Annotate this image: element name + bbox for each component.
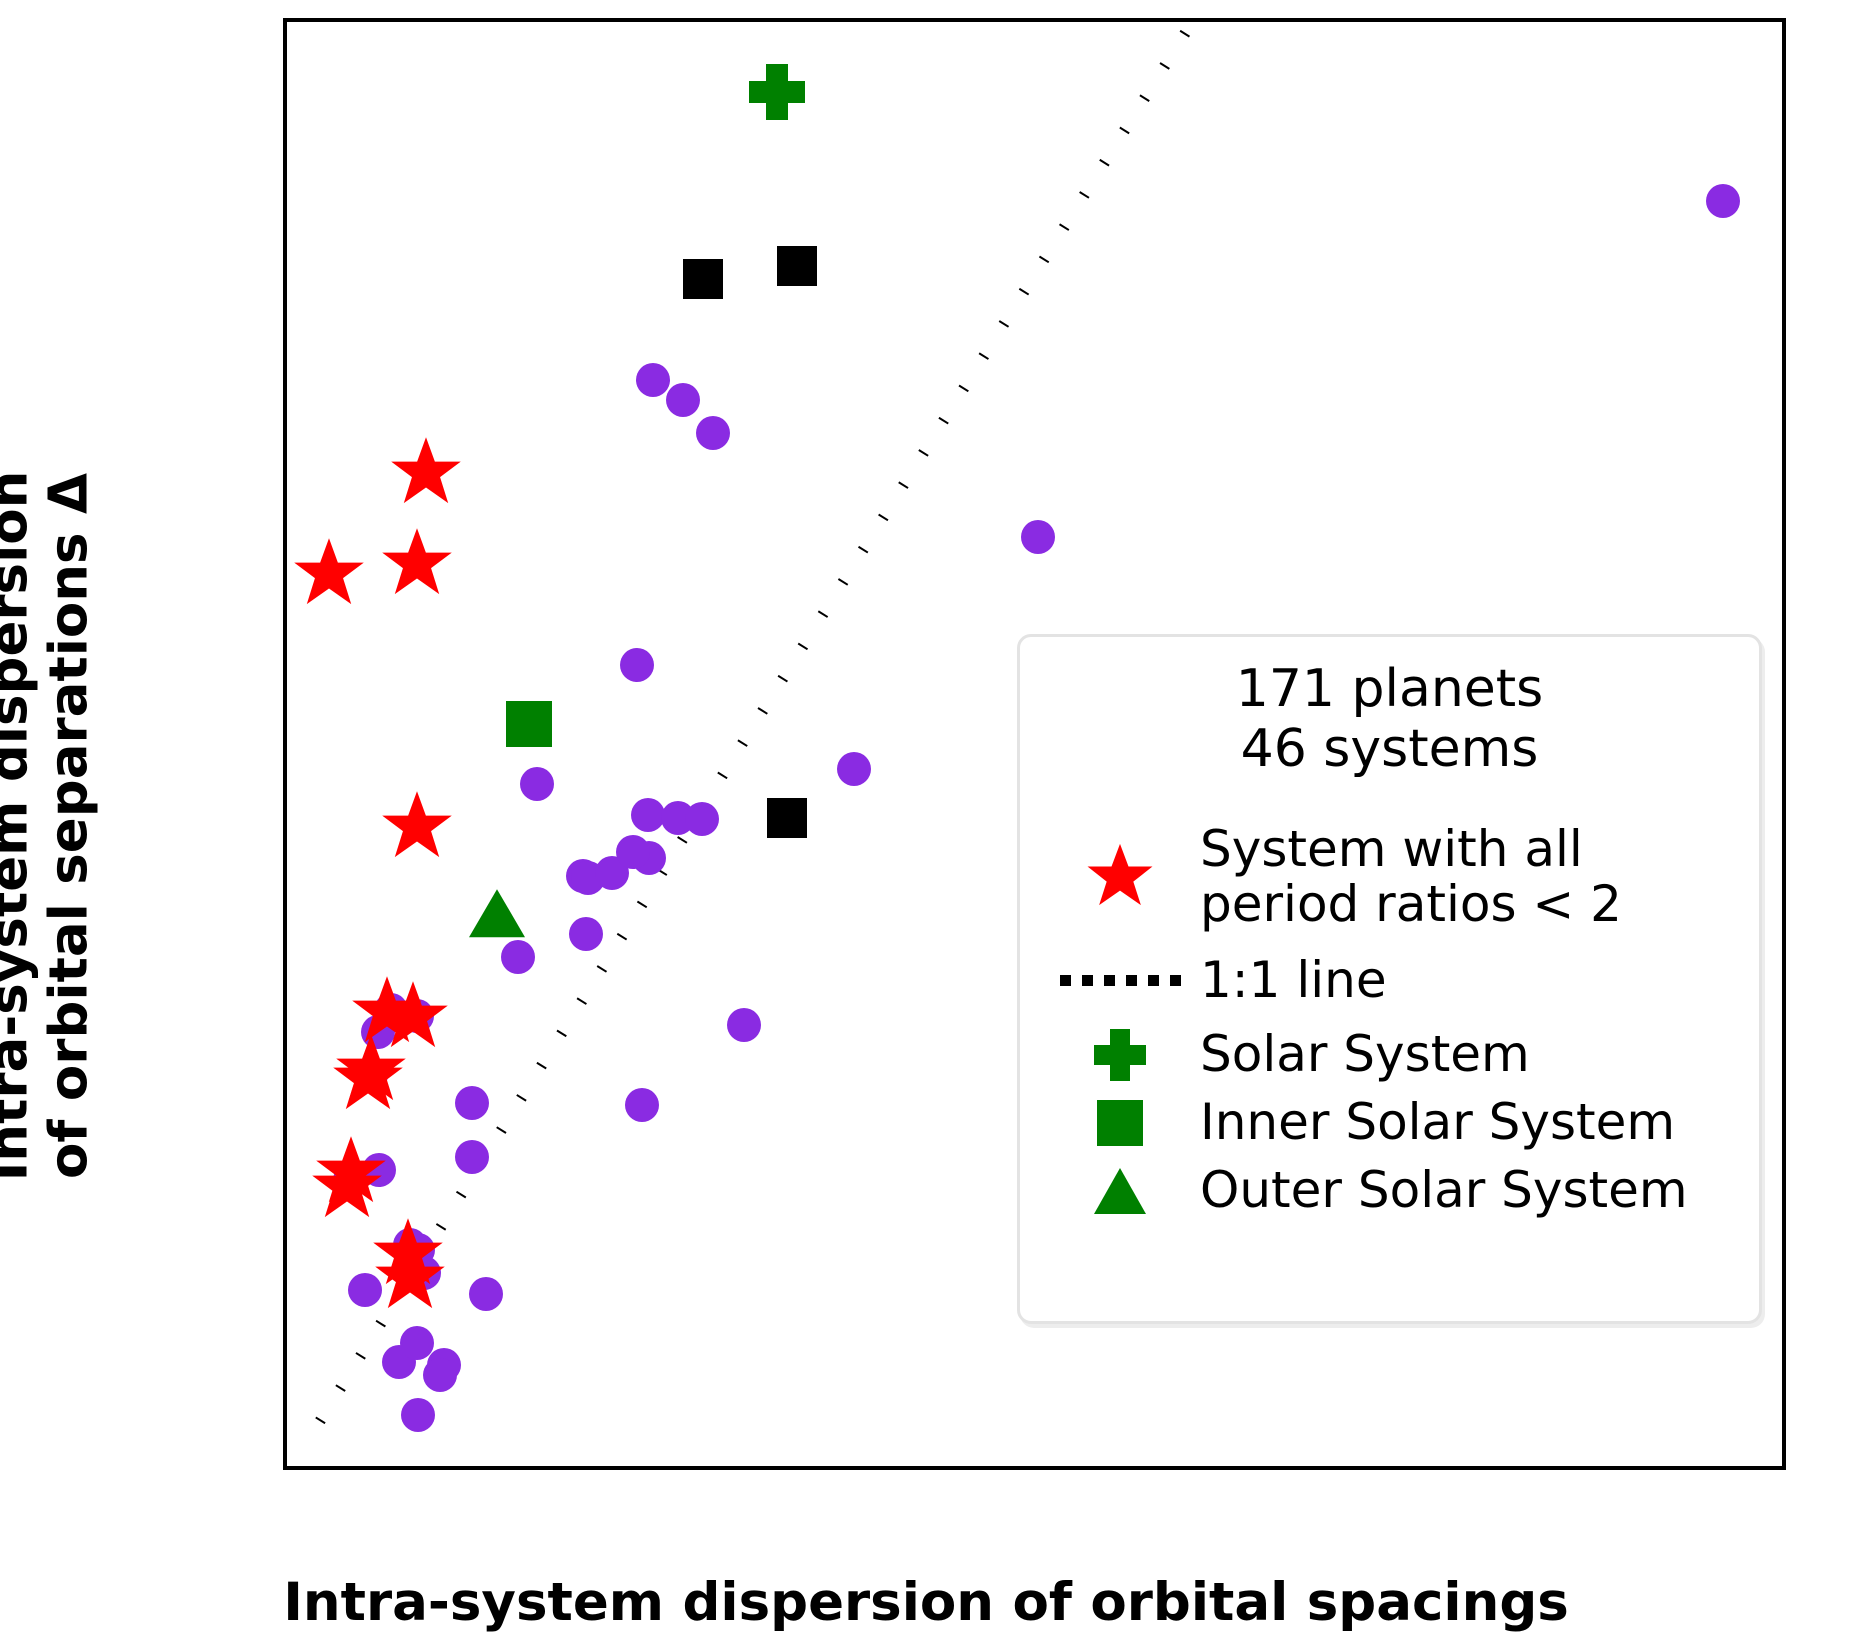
x-minor-tick xyxy=(318,1466,322,1470)
legend-label-one-to-one: 1:1 line xyxy=(1200,953,1387,1008)
x-major-tick xyxy=(455,1466,459,1470)
x-major-tick xyxy=(1552,1466,1556,1470)
data-point-circle xyxy=(469,1277,503,1311)
data-point-circle xyxy=(837,752,871,786)
data-point-circle xyxy=(401,1398,435,1432)
y-minor-tick xyxy=(283,363,287,367)
x-minor-tick xyxy=(1058,1466,1062,1470)
data-point-circle xyxy=(616,835,650,869)
x-minor-tick xyxy=(1717,1466,1721,1470)
x-major-tick xyxy=(866,1466,870,1470)
data-point-circle xyxy=(625,1088,659,1122)
data-point-circle xyxy=(666,383,700,417)
legend-label-outer-solar-system: Outer Solar System xyxy=(1200,1163,1688,1218)
data-point-circle xyxy=(685,802,719,836)
y-minor-tick xyxy=(283,407,287,411)
x-minor-tick xyxy=(620,1466,624,1470)
legend-box: 171 planets 46 systems System with all p… xyxy=(1017,634,1762,1324)
y-minor-tick xyxy=(283,847,287,851)
x-minor-tick xyxy=(1497,1466,1501,1470)
data-point-square xyxy=(777,246,817,286)
data-point-circle xyxy=(696,416,730,450)
x-minor-tick xyxy=(1442,1466,1446,1470)
data-point-circle xyxy=(455,1140,489,1174)
x-major-tick xyxy=(318,1466,322,1470)
x-minor-tick xyxy=(1580,1466,1584,1470)
legend-entry-inner-solar-system[interactable]: Inner Solar System xyxy=(1020,1092,1759,1154)
data-point-square xyxy=(506,701,552,747)
square-icon xyxy=(1040,1092,1200,1154)
data-point-circle xyxy=(501,940,535,974)
x-minor-tick xyxy=(428,1466,432,1470)
data-point-circle xyxy=(1706,184,1740,218)
y-minor-tick xyxy=(283,231,287,235)
y-minor-tick xyxy=(283,55,287,59)
legend-entry-period-ratio[interactable]: System with all period ratios < 2 xyxy=(1020,822,1759,932)
x-minor-tick xyxy=(921,1466,925,1470)
x-minor-tick xyxy=(1168,1466,1172,1470)
x-minor-tick xyxy=(1552,1466,1556,1470)
x-minor-tick xyxy=(866,1466,870,1470)
x-minor-tick xyxy=(510,1466,514,1470)
x-minor-tick xyxy=(812,1466,816,1470)
legend-entry-one-to-one[interactable]: 1:1 line xyxy=(1020,950,1759,1012)
x-minor-tick xyxy=(1607,1466,1611,1470)
data-point-triangle xyxy=(469,889,525,937)
x-major-tick xyxy=(592,1466,596,1470)
legend-entry-solar-system[interactable]: Solar System xyxy=(1020,1024,1759,1086)
x-minor-tick xyxy=(729,1466,733,1470)
x-minor-tick xyxy=(1360,1466,1364,1470)
data-point-circle xyxy=(1021,520,1055,554)
x-minor-tick xyxy=(1113,1466,1117,1470)
x-minor-tick xyxy=(1772,1466,1776,1470)
star-icon xyxy=(1040,846,1200,908)
x-major-tick xyxy=(1004,1466,1008,1470)
x-minor-tick xyxy=(482,1466,486,1470)
y-minor-tick xyxy=(283,451,287,455)
y-axis-title: Intra-system dispersion of orbital separ… xyxy=(0,336,100,1316)
x-minor-tick xyxy=(345,1466,349,1470)
x-minor-tick xyxy=(1223,1466,1227,1470)
x-axis-title: Intra-system dispersion of orbital spaci… xyxy=(0,1572,1852,1633)
x-major-tick xyxy=(729,1466,733,1470)
y-major-tick xyxy=(283,319,287,323)
data-point-circle xyxy=(636,363,670,397)
legend-label-solar-system: Solar System xyxy=(1200,1027,1530,1082)
x-minor-tick xyxy=(1305,1466,1309,1470)
y-minor-tick xyxy=(283,1331,287,1335)
legend-count-systems: 46 systems xyxy=(1020,719,1759,779)
x-minor-tick xyxy=(1196,1466,1200,1470)
x-minor-tick xyxy=(565,1466,569,1470)
x-minor-tick xyxy=(949,1466,953,1470)
x-minor-tick xyxy=(373,1466,377,1470)
y-minor-tick xyxy=(283,627,287,631)
triangle-icon xyxy=(1040,1160,1200,1222)
y-minor-tick xyxy=(283,1287,287,1291)
x-minor-tick xyxy=(839,1466,843,1470)
y-minor-tick xyxy=(283,803,287,807)
x-minor-tick xyxy=(1744,1466,1748,1470)
y-major-tick xyxy=(283,979,287,983)
data-point-circle xyxy=(520,767,554,801)
legend-entry-outer-solar-system[interactable]: Outer Solar System xyxy=(1020,1160,1759,1222)
x-minor-tick xyxy=(784,1466,788,1470)
x-minor-tick xyxy=(1470,1466,1474,1470)
x-minor-tick xyxy=(647,1466,651,1470)
y-minor-tick xyxy=(283,187,287,191)
x-minor-tick xyxy=(894,1466,898,1470)
y-major-tick xyxy=(283,99,287,103)
data-point-circle xyxy=(569,917,603,951)
legend-label-period-ratio: System with all period ratios < 2 xyxy=(1200,822,1622,932)
data-point-circle xyxy=(727,1008,761,1042)
x-minor-tick xyxy=(1004,1466,1008,1470)
x-minor-tick xyxy=(1525,1466,1529,1470)
x-minor-tick xyxy=(1031,1466,1035,1470)
x-minor-tick xyxy=(1250,1466,1254,1470)
x-minor-tick xyxy=(757,1466,761,1470)
y-minor-tick xyxy=(283,1111,287,1115)
legend-label-period-ratio-line2: period ratios < 2 xyxy=(1200,877,1622,932)
x-minor-tick xyxy=(702,1466,706,1470)
dotted-line-icon xyxy=(1040,950,1200,1012)
y-minor-tick xyxy=(283,583,287,587)
y-axis-title-line2: of orbital separations Δ xyxy=(40,336,100,1316)
y-minor-tick xyxy=(283,1155,287,1159)
plot-area: 0.0000.0500.1000.1500.2000.2500.3000.350… xyxy=(283,18,1786,1470)
x-major-tick xyxy=(1278,1466,1282,1470)
x-minor-tick xyxy=(1415,1466,1419,1470)
y-minor-tick xyxy=(283,891,287,895)
x-minor-tick xyxy=(1634,1466,1638,1470)
y-minor-tick xyxy=(283,495,287,499)
data-point-square xyxy=(683,259,723,299)
x-minor-tick xyxy=(1689,1466,1693,1470)
x-minor-tick xyxy=(1141,1466,1145,1470)
figure-root: Intra-system dispersion of orbital separ… xyxy=(0,0,1852,1651)
legend-label-period-ratio-line1: System with all xyxy=(1200,822,1622,877)
y-minor-tick xyxy=(283,1243,287,1247)
x-minor-tick xyxy=(1086,1466,1090,1470)
data-point-circle xyxy=(423,1358,457,1392)
y-minor-tick xyxy=(283,671,287,675)
y-major-tick xyxy=(283,1419,287,1423)
cross-icon xyxy=(1040,1024,1200,1086)
y-minor-tick xyxy=(283,1375,287,1379)
x-minor-tick xyxy=(1333,1466,1337,1470)
legend-label-inner-solar-system: Inner Solar System xyxy=(1200,1095,1675,1150)
data-point-circle xyxy=(455,1086,489,1120)
legend-count-planets: 171 planets xyxy=(1020,659,1759,719)
x-minor-tick xyxy=(1662,1466,1666,1470)
y-minor-tick xyxy=(283,935,287,939)
y-minor-tick xyxy=(283,275,287,279)
y-minor-tick xyxy=(283,1023,287,1027)
y-major-tick xyxy=(283,539,287,543)
y-major-tick xyxy=(283,759,287,763)
x-minor-tick xyxy=(976,1466,980,1470)
data-point-circle xyxy=(620,648,654,682)
x-minor-tick xyxy=(1278,1466,1282,1470)
y-axis-title-line1: Intra-system dispersion xyxy=(0,336,40,1316)
x-major-tick xyxy=(1415,1466,1419,1470)
legend-counts: 171 planets 46 systems xyxy=(1020,637,1759,780)
x-minor-tick xyxy=(455,1466,459,1470)
y-major-tick xyxy=(283,1199,287,1203)
y-minor-tick xyxy=(283,1067,287,1071)
y-minor-tick xyxy=(283,715,287,719)
x-minor-tick xyxy=(674,1466,678,1470)
data-point-square xyxy=(767,798,807,838)
x-minor-tick xyxy=(1388,1466,1392,1470)
y-minor-tick xyxy=(283,143,287,147)
x-major-tick xyxy=(1689,1466,1693,1470)
x-major-tick xyxy=(1141,1466,1145,1470)
x-minor-tick xyxy=(592,1466,596,1470)
x-minor-tick xyxy=(400,1466,404,1470)
x-minor-tick xyxy=(537,1466,541,1470)
